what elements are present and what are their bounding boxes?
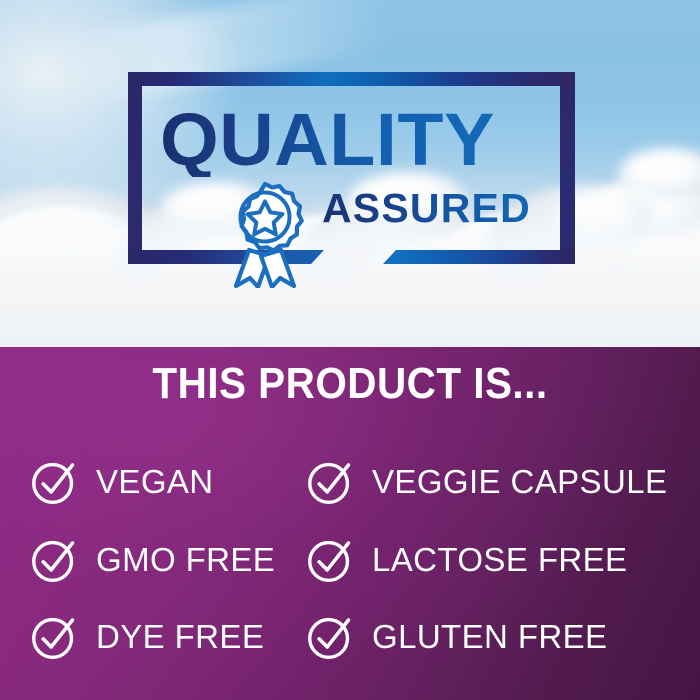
check-circle-icon xyxy=(306,458,355,507)
check-circle-icon xyxy=(306,536,355,585)
frame-border-left xyxy=(128,72,142,264)
claim-label: GLUTEN FREE xyxy=(372,620,607,655)
claim-item-vegan: VEGAN xyxy=(0,443,290,521)
claim-item-gmo-free: GMO FREE xyxy=(0,521,290,599)
frame-border-bottom-right xyxy=(383,250,575,264)
claim-item-dye-free: DYE FREE xyxy=(0,598,290,676)
claims-row: DYE FREE GLUTEN FREE xyxy=(0,598,700,676)
claims-row: VEGAN VEGGIE CAPSULE xyxy=(0,443,700,521)
headline-assured: ASSURED xyxy=(322,188,531,229)
check-circle-icon xyxy=(306,613,355,662)
claim-label: LACTOSE FREE xyxy=(372,543,627,578)
claim-item-lactose-free: LACTOSE FREE xyxy=(290,521,700,599)
frame-border-top xyxy=(128,72,575,86)
headline-quality: QUALITY xyxy=(160,103,495,177)
product-claims-graphic: QUALITY ASSURED THIS PRODUCT IS... xyxy=(0,0,700,700)
claims-list: VEGAN VEGGIE CAPSULE xyxy=(0,443,700,678)
claim-label: VEGGIE CAPSULE xyxy=(372,465,667,500)
check-circle-icon xyxy=(30,613,79,662)
check-circle-icon xyxy=(30,536,79,585)
claims-title: THIS PRODUCT IS... xyxy=(28,362,672,406)
claim-label: VEGAN xyxy=(96,465,214,500)
claim-item-veggie-capsule: VEGGIE CAPSULE xyxy=(290,443,700,521)
claims-row: GMO FREE LACTOSE FREE xyxy=(0,521,700,599)
frame-border-right xyxy=(560,72,575,264)
check-circle-icon xyxy=(30,458,79,507)
claim-label: DYE FREE xyxy=(96,620,264,655)
claim-item-gluten-free: GLUTEN FREE xyxy=(290,598,700,676)
claim-label: GMO FREE xyxy=(96,543,275,578)
rosette-star-badge-icon xyxy=(216,176,314,288)
